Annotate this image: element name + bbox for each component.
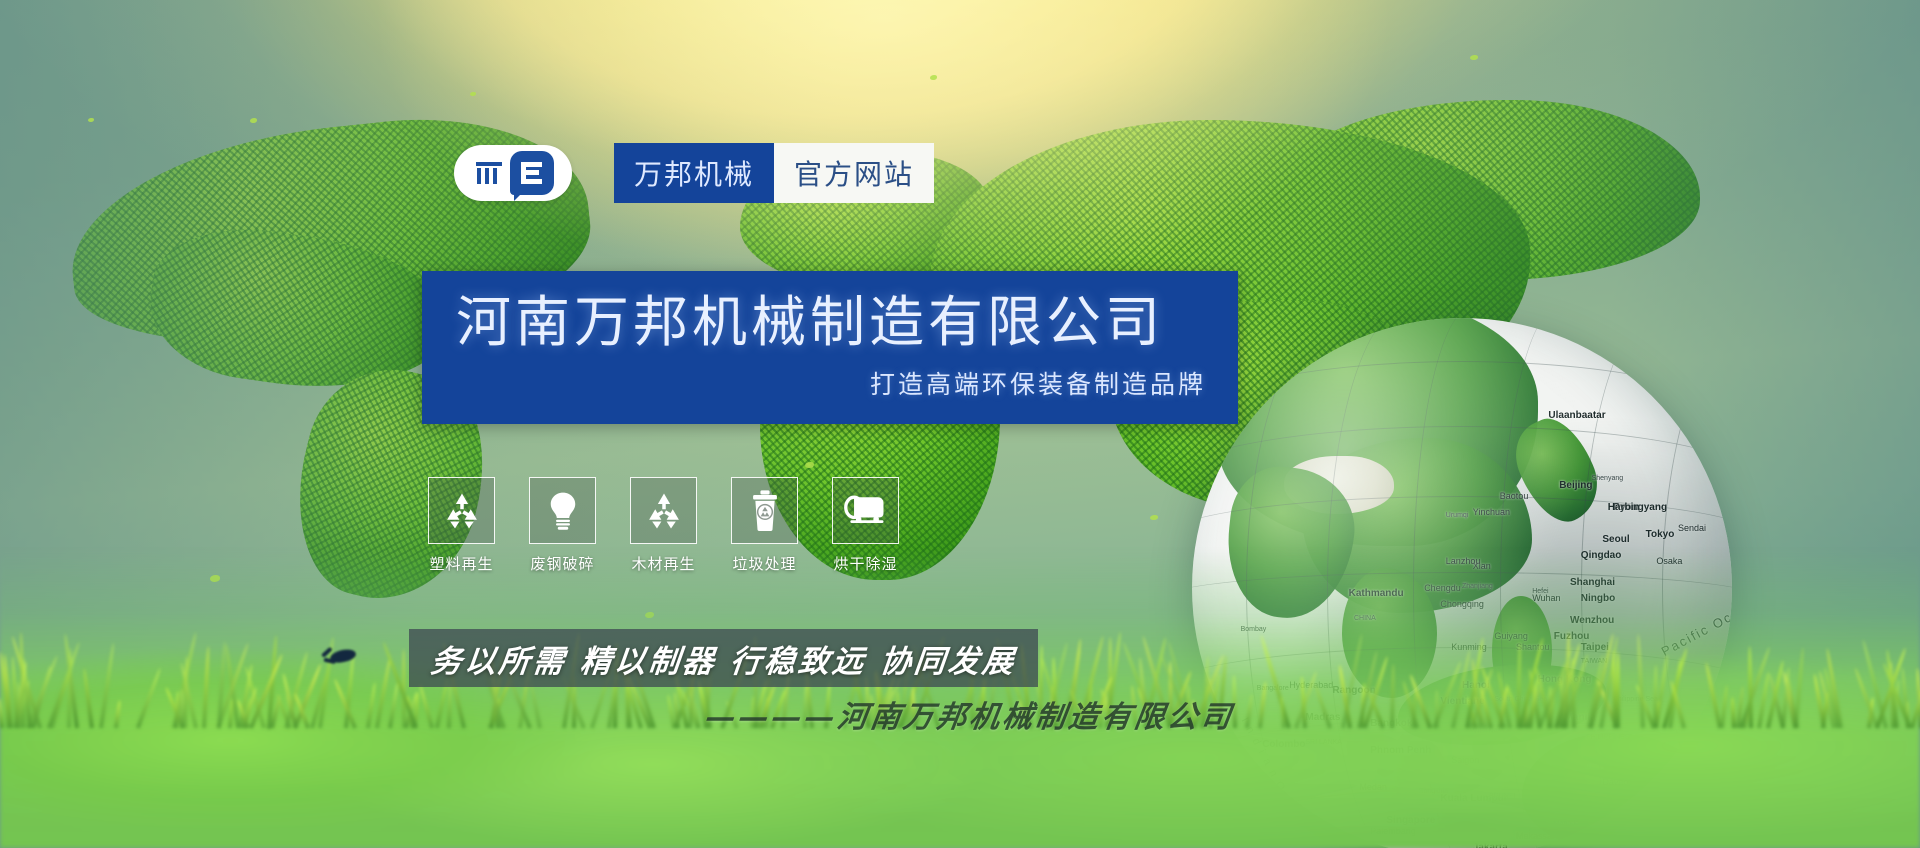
feature-item-wood-recycling[interactable]: 木材再生: [622, 477, 705, 574]
grass-blade: [447, 683, 452, 728]
grass-blade: [114, 700, 122, 728]
feature-item-plastic-recycling[interactable]: 塑料再生: [420, 477, 503, 574]
globe-label: Pyongyang: [1613, 502, 1667, 513]
grass-blade: [1730, 697, 1736, 728]
site-logo[interactable]: [454, 145, 572, 201]
grass-blade: [1794, 648, 1805, 729]
grass-blade: [1720, 685, 1729, 728]
grass-blade: [136, 668, 162, 729]
grass-blade: [1616, 652, 1620, 728]
slogan-text: 务以所需 精以制器 行稳致远 协同发展: [428, 636, 1018, 681]
grass-blade: [0, 698, 4, 729]
slogan-bar: 务以所需 精以制器 行稳致远 协同发展: [409, 629, 1038, 687]
feature-item-scrap-steel-crushing[interactable]: 废钢破碎: [521, 477, 604, 574]
recycle-icon: [630, 477, 697, 544]
globe-label: Tokyo: [1646, 529, 1675, 540]
globe-label: Harbin: [1608, 502, 1640, 513]
grass-blade: [1747, 646, 1752, 728]
hero-banner: UlaanbaatarBeijingBaotouYinchuanUrumqiPy…: [0, 0, 1920, 848]
grass-blade: [1704, 662, 1722, 729]
grass-blade: [1259, 634, 1291, 728]
feature-item-waste-treatment[interactable]: 垃圾处理: [723, 477, 806, 574]
grass-blade: [1637, 634, 1646, 728]
recycle-icon: [428, 477, 495, 544]
tab-official-site[interactable]: 官方网站: [774, 143, 934, 203]
page-subtitle: 打造高端环保装备制造品牌: [422, 365, 1238, 401]
rotary-dryer-icon: [832, 477, 899, 544]
feature-label: 塑料再生: [429, 553, 493, 574]
grass-blade: [217, 641, 227, 728]
grass-blade: [83, 668, 95, 728]
globe-label: Seoul: [1602, 534, 1629, 545]
feature-item-drying-dehumidifying[interactable]: 烘干除湿: [824, 477, 907, 574]
grass-blade: [1258, 681, 1267, 728]
grass-blade: [99, 642, 115, 728]
lightbulb-icon: [529, 477, 596, 544]
hero-title-panel: 河南万邦机械制造有限公司 打造高端环保装备制造品牌: [422, 271, 1238, 424]
brand-bar: 万邦机械 官方网站: [454, 142, 934, 204]
page-title: 河南万邦机械制造有限公司: [422, 294, 1238, 350]
feature-icon-row: 塑料再生 废钢破碎: [420, 477, 907, 574]
feature-label: 木材再生: [631, 553, 695, 574]
tab-brand-name[interactable]: 万邦机械: [614, 143, 774, 203]
grass-blade: [418, 684, 434, 728]
grass-blade: [1313, 684, 1332, 729]
grass-blade: [1653, 665, 1658, 728]
feature-label: 垃圾处理: [732, 553, 796, 574]
feature-label: 烘干除湿: [833, 553, 897, 574]
globe-label: Sendai: [1678, 523, 1706, 533]
globe-label: Ulaanbaatar: [1548, 410, 1605, 421]
grass-blade: [202, 646, 210, 728]
grass-blade: [1853, 667, 1879, 728]
slogan-signature: ————河南万邦机械制造有限公司: [687, 692, 1253, 736]
logo-speech-bubble-mark: [510, 151, 554, 195]
logo-w-mark: [472, 156, 506, 190]
trash-bin-recycle-icon: [731, 477, 798, 544]
feature-label: 废钢破碎: [530, 553, 594, 574]
grass-blade: [1390, 663, 1395, 728]
